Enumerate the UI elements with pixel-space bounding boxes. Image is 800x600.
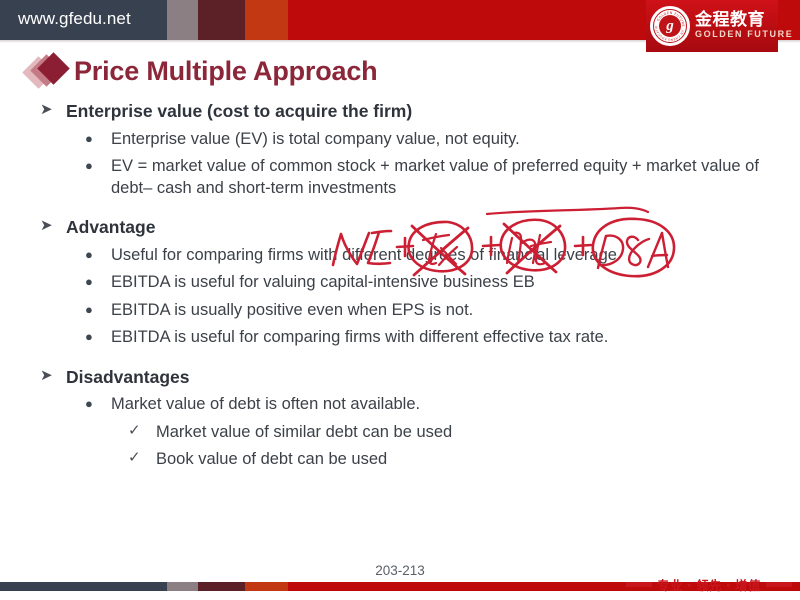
bullet-text: Disadvantages <box>66 366 190 389</box>
bullet-line-level-2: ●EBITDA is useful for comparing firms wi… <box>85 327 800 348</box>
bullet-line-level-3: ✓Market value of similar debt can be use… <box>128 422 800 443</box>
bullet-line-level-1: ➤Advantage <box>40 216 800 239</box>
bullet-line-level-2: ●EV = market value of common stock + mar… <box>85 156 800 199</box>
website-url: www.gfedu.net <box>18 9 131 29</box>
page-title: Price Multiple Approach <box>74 56 377 87</box>
header-segment-gray <box>167 0 198 40</box>
brand-logo: GOLDEN FUTURE EDU JIN CHENG EDUCATION g … <box>646 0 778 52</box>
bullet-marker-level-2-icon: ● <box>85 272 111 289</box>
bullet-line-level-2: ●Enterprise value (EV) is total company … <box>85 129 800 150</box>
bullet-text: Useful for comparing firms with differen… <box>111 245 617 266</box>
bullet-text: Advantage <box>66 216 155 239</box>
tagline-text: 专业・领先・增值 <box>657 575 761 594</box>
spacer <box>0 205 800 216</box>
logo-chinese-name: 金程教育 <box>695 11 793 29</box>
bullet-text: EBITDA is usually positive even when EPS… <box>111 300 473 321</box>
header-segment-dark-maroon <box>198 0 245 40</box>
bullet-marker-level-2-icon: ● <box>85 129 111 146</box>
bullet-text: Market value of similar debt can be used <box>156 422 452 443</box>
bullet-text: EBITDA is useful for comparing firms wit… <box>111 327 608 348</box>
footer-tagline: 专业・领先・增值 <box>626 575 792 594</box>
bullet-line-level-2: ●EBITDA is usually positive even when EP… <box>85 300 800 321</box>
bullet-marker-level-2-icon: ● <box>85 156 111 173</box>
bullet-text: EV = market value of common stock + mark… <box>111 156 771 199</box>
footer-segment-navy <box>0 582 167 591</box>
footer-segment-orange-red <box>245 582 288 591</box>
logo-english-name: GOLDEN FUTURE <box>695 29 793 41</box>
bullet-marker-level-2-icon: ● <box>85 300 111 317</box>
bullet-marker-level-3-icon: ✓ <box>128 449 156 466</box>
spacer <box>0 355 800 366</box>
slide-canvas: www.gfedu.net GOLDEN FUTURE EDU JIN CHEN… <box>0 0 800 600</box>
bullet-line-level-2: ●Useful for comparing firms with differe… <box>85 245 800 266</box>
bullet-marker-level-3-icon: ✓ <box>128 422 156 439</box>
bullet-line-level-1: ➤Disadvantages <box>40 366 800 389</box>
bullet-line-level-2: ●EBITDA is useful for valuing capital-in… <box>85 272 800 293</box>
bullet-text: EBITDA is useful for valuing capital-int… <box>111 272 535 293</box>
bullet-marker-level-1-icon: ➤ <box>40 100 66 118</box>
slide-body: ➤Enterprise value (cost to acquire the f… <box>0 100 800 477</box>
bullet-marker-level-2-icon: ● <box>85 394 111 411</box>
bullet-text: Enterprise value (EV) is total company v… <box>111 129 520 150</box>
header-segment-orange-red <box>245 0 288 40</box>
tagline-rule-right <box>766 582 792 587</box>
diamond-bullet-icon <box>26 54 70 88</box>
tagline-rule-left <box>626 582 652 587</box>
bullet-line-level-2: ●Market value of debt is often not avail… <box>85 394 800 415</box>
bullet-text: Enterprise value (cost to acquire the fi… <box>66 100 412 123</box>
seal-monogram-letter: g <box>666 19 674 34</box>
bullet-line-level-3: ✓Book value of debt can be used <box>128 449 800 470</box>
bullet-line-level-1: ➤Enterprise value (cost to acquire the f… <box>40 100 800 123</box>
bullet-text: Book value of debt can be used <box>156 449 387 470</box>
bullet-marker-level-2-icon: ● <box>85 245 111 262</box>
logo-wordmark: 金程教育 GOLDEN FUTURE <box>695 11 793 41</box>
bullet-marker-level-1-icon: ➤ <box>40 366 66 384</box>
footer-segment-dark-maroon <box>198 582 245 591</box>
seal-monogram: g <box>659 15 681 37</box>
bullet-marker-level-2-icon: ● <box>85 327 111 344</box>
bullet-marker-level-1-icon: ➤ <box>40 216 66 234</box>
bullet-text: Market value of debt is often not availa… <box>111 394 420 415</box>
slide-title-row: Price Multiple Approach <box>26 50 377 92</box>
seal-icon: GOLDEN FUTURE EDU JIN CHENG EDUCATION g <box>650 6 690 46</box>
footer-segment-gray <box>167 582 198 591</box>
